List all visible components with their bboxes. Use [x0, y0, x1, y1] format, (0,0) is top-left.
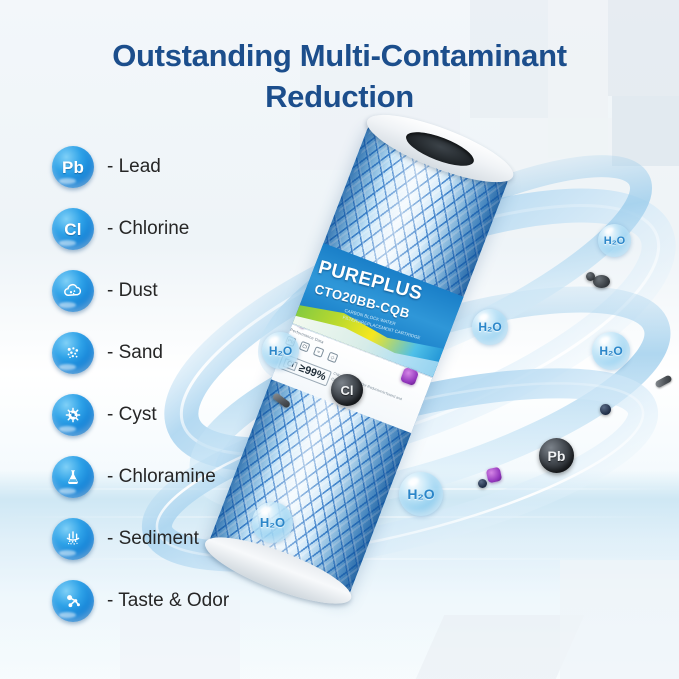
sand-grains-glyph [61, 341, 85, 365]
bubble-label: H₂O [478, 320, 501, 334]
spec-icon: ≈ [313, 346, 325, 358]
flask-glyph [61, 465, 85, 489]
h2o-bubble-right-top: H₂O [598, 224, 631, 257]
page-title: Outstanding Multi-Contaminant Reduction [0, 36, 679, 118]
debris-particle [478, 479, 487, 488]
list-item-label: - Cyst [107, 404, 157, 426]
bubble-label: H₂O [269, 344, 292, 358]
badge-symbol: Pb [62, 159, 84, 176]
list-item-label: - Taste & Odor [107, 590, 229, 612]
spec-side-note: NSF/ANSI [419, 394, 428, 410]
page-title-line-2: Reduction [0, 77, 679, 118]
list-item: - Sand [52, 329, 229, 377]
h2o-bubble-right-mid: H₂O [592, 332, 630, 370]
badge-symbol: Cl [64, 221, 81, 238]
reduction-value: ≥99% [297, 362, 327, 383]
spec-icon: ◇ [327, 352, 339, 364]
flask-icon [52, 456, 94, 498]
dust-cloud-glyph [61, 279, 85, 303]
debris-particle [586, 272, 595, 281]
list-item: Cl - Chlorine [52, 205, 229, 253]
list-item-label: - Dust [107, 280, 158, 302]
chlorine-symbol-icon: Cl [52, 208, 94, 250]
h2o-bubble-left: H₂O [262, 332, 299, 369]
list-item: - Sediment [52, 515, 229, 563]
orb-label: Pb [548, 448, 566, 464]
sediment-icon [52, 518, 94, 560]
list-item: Pb - Lead [52, 143, 229, 191]
cyst-microbe-icon [52, 394, 94, 436]
list-item: - Dust [52, 267, 229, 315]
h2o-bubble-mid: H₂O [472, 309, 508, 345]
list-item-label: - Lead [107, 156, 161, 178]
taste-odor-molecule-icon [52, 580, 94, 622]
list-item-label: - Chloramine [107, 466, 216, 488]
bubble-label: H₂O [260, 515, 285, 530]
orb-label: Cl [341, 383, 354, 398]
page-title-line-1: Outstanding Multi-Contaminant [0, 36, 679, 77]
list-item: - Taste & Odor [52, 577, 229, 625]
bubble-label: H₂O [407, 486, 434, 502]
product-infographic: Outstanding Multi-Contaminant Reduction … [0, 0, 679, 679]
list-item-label: - Sand [107, 342, 163, 364]
list-item: - Cyst [52, 391, 229, 439]
lead-orb: Pb [539, 438, 574, 473]
cyst-microbe-glyph [61, 403, 85, 427]
h2o-bubble-lower-left: H₂O [252, 502, 293, 543]
molecule-glyph [61, 589, 85, 613]
h2o-bubble-lower-center: H₂O [399, 472, 443, 516]
contaminant-list: Pb - Lead Cl - Chlorine - Dust [52, 143, 229, 639]
debris-particle [600, 404, 611, 415]
chlorine-orb: Cl [331, 374, 363, 406]
spec-icon: Cl [299, 341, 311, 353]
list-item-label: - Sediment [107, 528, 199, 550]
sand-grains-icon [52, 332, 94, 374]
list-item-label: - Chlorine [107, 218, 189, 240]
bubble-label: H₂O [599, 344, 622, 358]
sediment-glyph [61, 527, 85, 551]
list-item: - Chloramine [52, 453, 229, 501]
debris-particle [593, 275, 610, 288]
bubble-label: H₂O [604, 235, 625, 247]
dust-cloud-icon [52, 270, 94, 312]
lead-symbol-icon: Pb [52, 146, 94, 188]
